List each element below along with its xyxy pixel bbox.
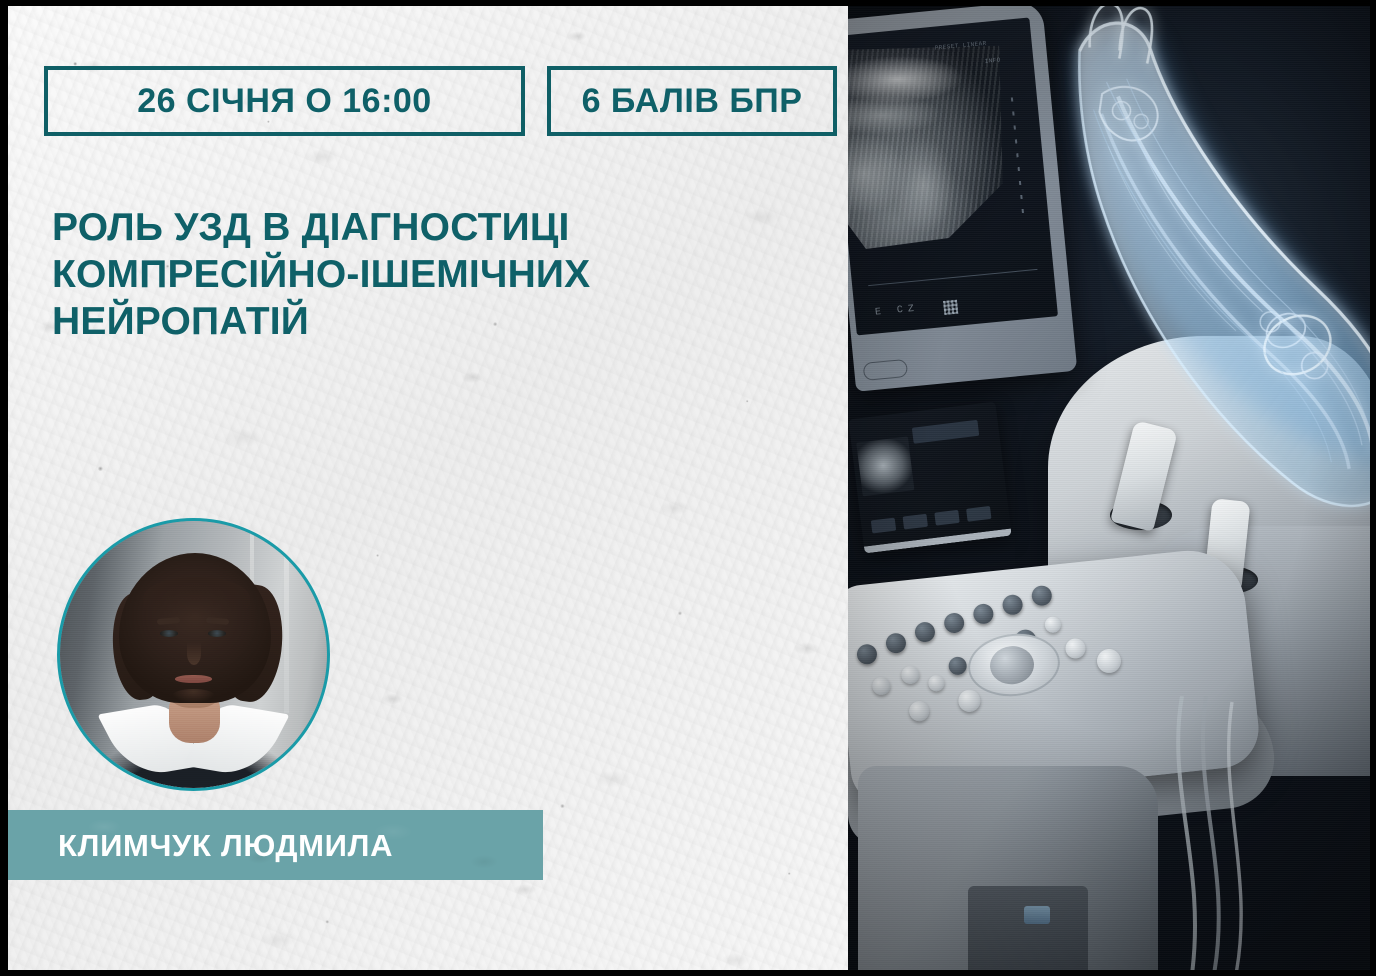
console-knob bbox=[1002, 594, 1024, 616]
touchscreen-button bbox=[934, 510, 959, 526]
machine-front-panel bbox=[968, 886, 1088, 970]
touchscreen-panel bbox=[912, 420, 979, 444]
avatar bbox=[57, 518, 330, 791]
console-knob bbox=[948, 656, 968, 676]
console-button bbox=[871, 676, 891, 696]
console-button bbox=[1065, 637, 1087, 659]
speaker-name-label: КЛИМЧУК ЛЮДМИЛА bbox=[58, 830, 393, 861]
speaker-portrait-photo bbox=[60, 521, 327, 788]
monitor-bezel-handle bbox=[862, 359, 908, 381]
speaker-name-banner: КЛИМЧУК ЛЮДМИЛА bbox=[8, 810, 543, 880]
badge-row: 26 СІЧНЯ О 16:00 6 БАЛІВ БПР bbox=[44, 66, 837, 136]
console-knob bbox=[856, 643, 878, 665]
poster-root: 26 СІЧНЯ О 16:00 6 БАЛІВ БПР РОЛЬ УЗД В … bbox=[0, 0, 1376, 976]
credits-badge: 6 БАЛІВ БПР bbox=[547, 66, 837, 136]
title-line-2: КОМПРЕСІЙНО-ІШЕМІЧНИХ bbox=[52, 251, 772, 298]
ultrasound-monitor-screen: PRESET LINEAR INFO E CZ bbox=[848, 17, 1058, 335]
title-line-1: РОЛЬ УЗД В ДІАГНОСТИЦІ bbox=[52, 204, 772, 251]
monitor-footer-label: E CZ bbox=[875, 303, 920, 318]
console-touchscreen bbox=[848, 401, 1011, 553]
ultrasound-monitor: PRESET LINEAR INFO E CZ bbox=[848, 6, 1077, 392]
probe-cables bbox=[1148, 696, 1288, 970]
console-knob bbox=[914, 621, 936, 643]
title-line-3: НЕЙРОПАТІЙ bbox=[52, 298, 772, 345]
console-button bbox=[1044, 616, 1062, 634]
page-title: РОЛЬ УЗД В ДІАГНОСТИЦІ КОМПРЕСІЙНО-ІШЕМІ… bbox=[52, 204, 772, 345]
touchscreen-button bbox=[966, 506, 991, 522]
console-button bbox=[957, 689, 981, 713]
portrait-grain bbox=[60, 521, 327, 788]
machine-indicator-light bbox=[1024, 906, 1050, 924]
ultrasound-scan-image bbox=[848, 46, 1005, 273]
date-badge-label: 26 СІЧНЯ О 16:00 bbox=[137, 84, 431, 118]
console-button bbox=[1096, 648, 1122, 674]
touchscreen-button bbox=[871, 518, 896, 534]
console-button bbox=[928, 674, 946, 692]
touchscreen-thumbnail bbox=[856, 436, 914, 496]
console-knob bbox=[972, 603, 994, 625]
console-button bbox=[908, 700, 930, 722]
monitor-qr-code bbox=[943, 300, 958, 315]
console-button bbox=[900, 665, 920, 685]
console-knob bbox=[885, 632, 907, 654]
console-knob bbox=[943, 612, 965, 634]
monitor-depth-scale bbox=[1011, 97, 1025, 223]
console-knob bbox=[1031, 585, 1053, 607]
medical-photo-panel: PRESET LINEAR INFO E CZ bbox=[848, 6, 1370, 970]
credits-badge-label: 6 БАЛІВ БПР bbox=[582, 84, 803, 118]
date-badge: 26 СІЧНЯ О 16:00 bbox=[44, 66, 525, 136]
monitor-divider bbox=[868, 269, 1037, 286]
touchscreen-button bbox=[903, 514, 928, 530]
